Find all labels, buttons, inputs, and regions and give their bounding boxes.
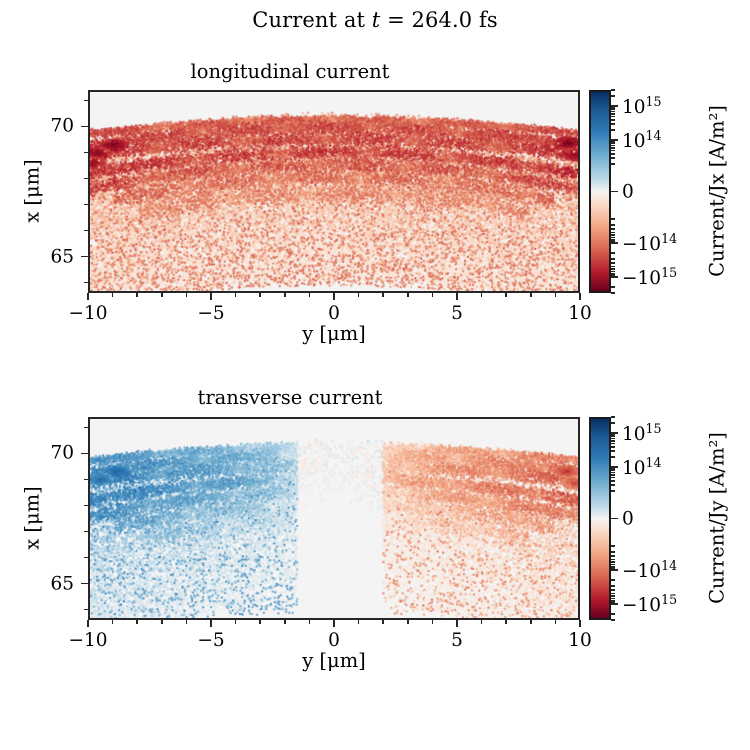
colorbar-minor-tick	[611, 589, 615, 590]
colorbar-minor-tick	[611, 228, 615, 229]
colorbar-minor-tick	[611, 438, 615, 439]
colorbar-major-tick	[611, 466, 618, 468]
colorbar-major-tick	[611, 432, 618, 434]
x-major-tick	[456, 293, 458, 300]
colorbar-major-tick	[611, 603, 618, 605]
x-major-tick	[456, 620, 458, 627]
colorbar-minor-tick	[611, 450, 615, 451]
colorbar-minor-tick	[611, 258, 615, 259]
colorbar-minor-tick	[611, 234, 615, 235]
colorbar-minor-tick	[611, 157, 615, 158]
colorbar-minor-tick	[611, 286, 615, 287]
colorbar-minor-tick	[611, 613, 615, 614]
colorbar-minor-tick	[611, 416, 615, 417]
x-minor-tick	[432, 293, 434, 297]
x-major-tick	[333, 620, 335, 627]
figure-suptitle: Current at t = 264.0 fs	[0, 8, 750, 32]
top-panel-axes[interactable]	[88, 90, 580, 293]
colorbar-minor-tick	[611, 252, 615, 253]
x-tick-label: −5	[197, 303, 224, 324]
x-minor-tick	[259, 620, 261, 624]
bottom-colorbar-label: Current/Jy [A/m²]	[706, 432, 729, 604]
x-tick-label: 5	[451, 303, 463, 324]
y-major-tick	[81, 453, 88, 455]
colorbar-minor-tick	[611, 474, 615, 475]
colorbar-minor-tick	[611, 490, 615, 491]
colorbar-minor-tick	[611, 619, 615, 620]
y-tick-label: 65	[14, 573, 74, 594]
colorbar-tick-label: 0	[622, 508, 634, 529]
colorbar-minor-tick	[611, 153, 615, 154]
transverse-current-heatmap	[90, 419, 578, 618]
colorbar-minor-tick	[611, 446, 615, 447]
colorbar-minor-tick	[611, 95, 615, 96]
colorbar-minor-tick	[611, 545, 615, 546]
colorbar-minor-tick	[611, 595, 615, 596]
x-minor-tick	[432, 620, 434, 624]
x-minor-tick	[555, 293, 557, 297]
x-tick-label: 0	[328, 303, 340, 324]
colorbar-minor-tick	[611, 224, 615, 225]
colorbar-minor-tick	[611, 579, 615, 580]
colorbar-tick-label: −1014	[622, 558, 677, 582]
colorbar-minor-tick	[611, 266, 615, 267]
colorbar-major-tick	[611, 139, 618, 141]
colorbar-minor-tick	[611, 232, 615, 233]
y-minor-tick	[84, 152, 88, 154]
colorbar-minor-tick	[611, 472, 615, 473]
x-minor-tick	[161, 620, 163, 624]
y-minor-tick	[84, 100, 88, 102]
colorbar-minor-tick	[611, 555, 615, 556]
y-tick-label: 65	[14, 246, 74, 267]
colorbar-minor-tick	[611, 436, 615, 437]
colorbar-minor-tick	[611, 109, 615, 110]
colorbar-major-tick	[611, 105, 618, 107]
colorbar-minor-tick	[611, 145, 615, 146]
colorbar-minor-tick	[611, 443, 615, 444]
x-minor-tick	[407, 293, 409, 297]
y-minor-tick	[84, 282, 88, 284]
top-panel-xlabel: y [μm]	[302, 322, 366, 345]
colorbar-minor-tick	[611, 559, 615, 560]
y-minor-tick	[84, 204, 88, 206]
top-colorbar[interactable]	[589, 90, 611, 293]
x-minor-tick	[112, 620, 114, 624]
y-minor-tick	[84, 427, 88, 429]
colorbar-minor-tick	[611, 468, 615, 469]
x-minor-tick	[530, 293, 532, 297]
y-minor-tick	[84, 479, 88, 481]
x-minor-tick	[505, 620, 507, 624]
x-minor-tick	[136, 620, 138, 624]
colorbar-minor-tick	[611, 107, 615, 108]
colorbar-minor-tick	[611, 292, 615, 293]
x-tick-label: 10	[568, 630, 592, 651]
x-minor-tick	[284, 620, 286, 624]
suptitle-prefix: Current at	[252, 8, 371, 32]
longitudinal-current-heatmap	[90, 92, 578, 291]
x-tick-label: 0	[328, 630, 340, 651]
x-minor-tick	[235, 293, 237, 297]
top-panel-title: longitudinal current	[40, 60, 540, 83]
x-minor-tick	[309, 620, 311, 624]
colorbar-minor-tick	[611, 262, 615, 263]
colorbar-tick-label: 1015	[622, 94, 662, 118]
bottom-panel-title: transverse current	[40, 386, 540, 409]
x-tick-label: −10	[68, 630, 107, 651]
colorbar-minor-tick	[611, 561, 615, 562]
figure-canvas: Current at t = 264.0 fs longitudinal cur…	[0, 0, 750, 750]
colorbar-minor-tick	[611, 129, 615, 130]
colorbar-minor-tick	[611, 163, 615, 164]
x-tick-label: 5	[451, 630, 463, 651]
colorbar-tick-label: −1015	[622, 265, 677, 289]
colorbar-minor-tick	[611, 150, 615, 151]
x-minor-tick	[382, 293, 384, 297]
colorbar-minor-tick	[611, 113, 615, 114]
y-tick-label: 70	[14, 116, 74, 137]
bottom-panel-axes[interactable]	[88, 417, 580, 620]
x-major-tick	[210, 293, 212, 300]
x-minor-tick	[186, 293, 188, 297]
colorbar-minor-tick	[611, 147, 615, 148]
y-minor-tick	[84, 557, 88, 559]
colorbar-tick-label: 1014	[622, 455, 662, 479]
colorbar-minor-tick	[611, 111, 615, 112]
bottom-colorbar[interactable]	[589, 417, 611, 620]
x-minor-tick	[530, 620, 532, 624]
colorbar-minor-tick	[611, 484, 615, 485]
x-minor-tick	[309, 293, 311, 297]
x-minor-tick	[235, 620, 237, 624]
colorbar-tick-label: −1015	[622, 592, 677, 616]
colorbar-tick-label: −1014	[622, 231, 677, 255]
top-colorbar-label: Current/Jx [A/m²]	[706, 105, 729, 277]
y-tick-label: 70	[14, 443, 74, 464]
x-major-tick	[333, 293, 335, 300]
x-minor-tick	[136, 293, 138, 297]
suptitle-time-value: = 264.0 fs	[380, 8, 497, 32]
top-colorbar-gradient	[591, 92, 609, 291]
y-minor-tick	[84, 505, 88, 507]
x-minor-tick	[481, 293, 483, 297]
colorbar-minor-tick	[611, 116, 615, 117]
colorbar-major-tick	[611, 191, 618, 193]
colorbar-tick-label: 1014	[622, 128, 662, 152]
colorbar-major-tick	[611, 569, 618, 571]
colorbar-minor-tick	[611, 585, 615, 586]
colorbar-minor-tick	[611, 422, 615, 423]
colorbar-minor-tick	[611, 477, 615, 478]
colorbar-major-tick	[611, 242, 618, 244]
x-minor-tick	[186, 620, 188, 624]
x-minor-tick	[358, 620, 360, 624]
colorbar-tick-label: 1015	[622, 421, 662, 445]
x-minor-tick	[481, 620, 483, 624]
colorbar-major-tick	[611, 518, 618, 520]
y-major-tick	[81, 256, 88, 258]
x-major-tick	[210, 620, 212, 627]
x-tick-label: −5	[197, 630, 224, 651]
colorbar-minor-tick	[611, 123, 615, 124]
y-major-tick	[81, 126, 88, 128]
colorbar-minor-tick	[611, 470, 615, 471]
x-minor-tick	[382, 620, 384, 624]
bottom-colorbar-gradient	[591, 419, 609, 618]
colorbar-major-tick	[611, 276, 618, 278]
x-major-tick	[87, 293, 89, 300]
colorbar-minor-tick	[611, 480, 615, 481]
colorbar-minor-tick	[611, 551, 615, 552]
x-tick-label: −10	[68, 303, 107, 324]
x-minor-tick	[555, 620, 557, 624]
x-tick-label: 10	[568, 303, 592, 324]
x-minor-tick	[284, 293, 286, 297]
colorbar-minor-tick	[611, 593, 615, 594]
x-major-tick	[579, 293, 581, 300]
y-minor-tick	[84, 531, 88, 533]
bottom-panel-xlabel: y [μm]	[302, 649, 366, 672]
y-minor-tick	[84, 178, 88, 180]
bottom-panel-ylabel: x [μm]	[21, 486, 44, 550]
y-minor-tick	[84, 609, 88, 611]
y-major-tick	[81, 583, 88, 585]
x-major-tick	[87, 620, 89, 627]
colorbar-minor-tick	[611, 440, 615, 441]
colorbar-tick-label: 0	[622, 181, 634, 202]
x-minor-tick	[505, 293, 507, 297]
top-panel-ylabel: x [μm]	[21, 159, 44, 223]
colorbar-minor-tick	[611, 89, 615, 90]
y-minor-tick	[84, 230, 88, 232]
colorbar-minor-tick	[611, 141, 615, 142]
x-minor-tick	[358, 293, 360, 297]
colorbar-minor-tick	[611, 456, 615, 457]
colorbar-minor-tick	[611, 434, 615, 435]
x-minor-tick	[259, 293, 261, 297]
colorbar-minor-tick	[611, 143, 615, 144]
colorbar-minor-tick	[611, 218, 615, 219]
x-minor-tick	[161, 293, 163, 297]
colorbar-minor-tick	[611, 268, 615, 269]
colorbar-minor-tick	[611, 119, 615, 120]
x-minor-tick	[112, 293, 114, 297]
x-minor-tick	[407, 620, 409, 624]
x-major-tick	[579, 620, 581, 627]
